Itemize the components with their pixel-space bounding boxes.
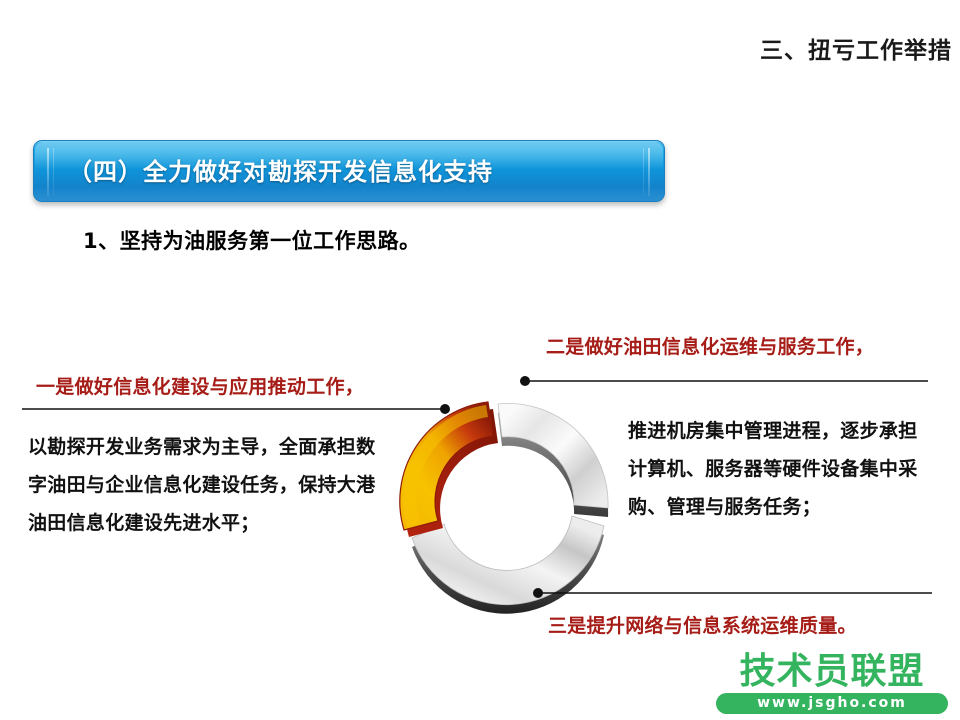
slide-canvas: 三、扭亏工作举措 （四）全力做好对勘探开发信息化支持 1、坚持为油服务第一位工作… xyxy=(0,0,960,720)
watermark-url-pill: www.jsgho.com xyxy=(716,693,948,714)
page-title: 三、扭亏工作举措 xyxy=(760,31,952,65)
banner-divider-right-2 xyxy=(643,148,644,196)
watermark-logo: 技术员联盟 www.jsgho.com xyxy=(716,652,948,714)
callout-two-heading: 二是做好油田信息化运维与服务工作， xyxy=(546,332,874,359)
banner-divider-left-2 xyxy=(53,148,54,196)
watermark-logo-name: 技术员联盟 xyxy=(716,652,948,692)
donut-segment-silver-lower xyxy=(412,516,604,614)
donut-segment-orange xyxy=(400,402,498,537)
callout-three-heading: 三是提升网络与信息系统运维质量。 xyxy=(548,611,857,638)
section-banner-label: （四）全力做好对勘探开发信息化支持 xyxy=(68,141,493,203)
section-banner[interactable]: （四）全力做好对勘探开发信息化支持 xyxy=(33,140,665,202)
subtitle-text: 1、坚持为油服务第一位工作思路。 xyxy=(83,225,421,255)
callout-two-body: 推进机房集中管理进程，逐步承担计算机、服务器等硬件设备集中采购、管理与服务任务； xyxy=(628,412,936,526)
header-curve-graphic xyxy=(0,0,960,130)
callout-one-heading: 一是做好信息化建设与应用推动工作， xyxy=(36,372,364,399)
donut-segment-silver-upper xyxy=(498,403,608,517)
callout-one-body: 以勘探开发业务需求为主导，全面承担数字油田与企业信息化建设任务，保持大港油田信息… xyxy=(28,428,388,542)
banner-divider-left xyxy=(47,148,49,196)
header-decoration xyxy=(0,0,960,130)
donut-ring-diagram xyxy=(368,358,658,648)
watermark-logo-url: www.jsgho.com xyxy=(716,693,948,714)
banner-divider-right xyxy=(648,148,650,196)
